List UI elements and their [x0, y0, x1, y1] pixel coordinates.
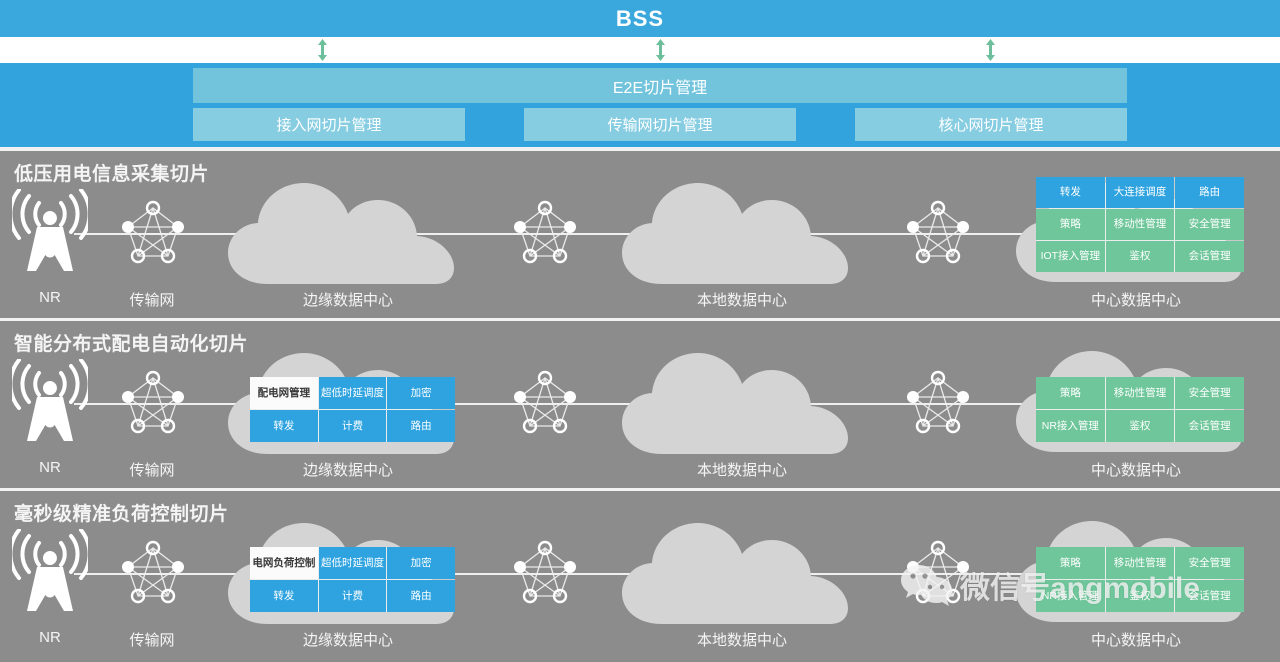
function-cell[interactable]: NR接入管理 [1036, 410, 1105, 442]
node-label-local-dc: 本地数据中心 [697, 629, 787, 650]
function-cell[interactable]: 大连接调度 [1106, 177, 1175, 208]
transport-slice-management-label: 传输网切片管理 [607, 114, 712, 135]
core-slice-management-box[interactable]: 核心网切片管理 [855, 108, 1127, 141]
function-cell[interactable]: 鉴权 [1106, 241, 1175, 272]
slice-row: 智能分布式配电自动化切片 [0, 321, 1280, 488]
double-headed-vertical-arrow-icon [317, 39, 328, 61]
network-mesh-icon [905, 369, 971, 435]
e2e-slice-management-box[interactable]: E2E切片管理 [193, 68, 1127, 103]
ran-slice-management-box[interactable]: 接入网切片管理 [193, 108, 465, 141]
function-cell[interactable]: NR接入管理 [1036, 580, 1105, 612]
node-label-transport: 传输网 [129, 289, 174, 310]
ran-slice-management-label: 接入网切片管理 [276, 114, 381, 135]
function-cell[interactable]: 安全管理 [1175, 377, 1244, 409]
edge-function-grid: 电网负荷控制超低时延调度加密转发计费路由 [250, 547, 455, 612]
network-mesh-icon [512, 369, 578, 435]
function-cell[interactable]: 路由 [387, 410, 455, 442]
function-cell[interactable]: 电网负荷控制 [250, 547, 318, 579]
central-function-grid: 策略移动性管理安全管理NR接入管理鉴权会话管理 [1036, 547, 1244, 612]
slice-title: 毫秒级精准负荷控制切片 [14, 499, 229, 526]
function-cell[interactable]: 移动性管理 [1106, 547, 1175, 579]
node-label-nr: NR [39, 459, 61, 476]
node-label-local-dc: 本地数据中心 [697, 459, 787, 480]
node-label-nr: NR [39, 289, 61, 306]
node-label-edge-dc: 边缘数据中心 [303, 459, 393, 480]
function-cell[interactable]: 转发 [250, 580, 318, 612]
function-cell[interactable]: 移动性管理 [1106, 209, 1175, 240]
slice-title: 低压用电信息采集切片 [14, 159, 209, 186]
function-cell[interactable]: 加密 [387, 547, 455, 579]
cloud-icon [618, 519, 866, 629]
function-cell[interactable]: 配电网管理 [250, 377, 318, 409]
network-mesh-icon [120, 369, 186, 435]
function-cell[interactable]: 会话管理 [1175, 580, 1244, 612]
e2e-slice-management-label: E2E切片管理 [613, 74, 707, 98]
cell-tower-icon [12, 359, 88, 445]
cell-tower-icon [12, 189, 88, 275]
function-cell[interactable]: 计费 [319, 580, 387, 612]
node-label-transport: 传输网 [129, 629, 174, 650]
function-cell[interactable]: 策略 [1036, 377, 1105, 409]
function-cell[interactable]: 会话管理 [1175, 410, 1244, 442]
bss-bar: BSS [0, 0, 1280, 37]
function-cell[interactable]: 路由 [387, 580, 455, 612]
function-cell[interactable]: 路由 [1175, 177, 1244, 208]
function-cell[interactable]: IOT接入管理 [1036, 241, 1105, 272]
function-cell[interactable]: 会话管理 [1175, 241, 1244, 272]
node-label-edge-dc: 边缘数据中心 [303, 629, 393, 650]
node-label-transport: 传输网 [129, 459, 174, 480]
network-mesh-icon [120, 199, 186, 265]
function-cell[interactable]: 策略 [1036, 209, 1105, 240]
network-mesh-icon [120, 539, 186, 605]
node-label-edge-dc: 边缘数据中心 [303, 289, 393, 310]
cloud-icon [224, 179, 472, 289]
slice-title: 智能分布式配电自动化切片 [14, 329, 248, 356]
node-label-local-dc: 本地数据中心 [697, 289, 787, 310]
edge-function-grid: 配电网管理超低时延调度加密转发计费路由 [250, 377, 455, 442]
central-function-grid: 策略移动性管理安全管理NR接入管理鉴权会话管理 [1036, 377, 1244, 442]
function-cell[interactable]: 安全管理 [1175, 547, 1244, 579]
slice-row: 毫秒级精准负荷控制切片 [0, 491, 1280, 662]
connector-strip [0, 37, 1280, 63]
function-cell[interactable]: 鉴权 [1106, 580, 1175, 612]
double-headed-vertical-arrow-icon [985, 39, 996, 61]
cell-tower-icon [12, 529, 88, 615]
slice-row: 低压用电信息采集切片 [0, 151, 1280, 318]
network-mesh-icon [512, 539, 578, 605]
cloud-icon [618, 349, 866, 459]
network-mesh-icon [512, 199, 578, 265]
node-label-central-dc: 中心数据中心 [1091, 289, 1181, 310]
function-cell[interactable]: 转发 [1036, 177, 1105, 208]
function-cell[interactable]: 安全管理 [1175, 209, 1244, 240]
diagram-canvas: BSS E2E切片管理 接入网切片管理 传输网切片管理 核心网切片管理 低压用电… [0, 0, 1280, 662]
function-cell[interactable]: 鉴权 [1106, 410, 1175, 442]
node-label-nr: NR [39, 629, 61, 646]
bss-title: BSS [616, 6, 664, 32]
network-mesh-icon [905, 199, 971, 265]
double-headed-vertical-arrow-icon [655, 39, 666, 61]
function-cell[interactable]: 加密 [387, 377, 455, 409]
core-slice-management-label: 核心网切片管理 [938, 114, 1043, 135]
network-mesh-icon [905, 539, 971, 605]
function-cell[interactable]: 超低时延调度 [319, 547, 387, 579]
function-cell[interactable]: 超低时延调度 [319, 377, 387, 409]
node-label-central-dc: 中心数据中心 [1091, 629, 1181, 650]
node-label-central-dc: 中心数据中心 [1091, 459, 1181, 480]
central-function-grid: 转发大连接调度路由策略移动性管理安全管理IOT接入管理鉴权会话管理 [1036, 177, 1244, 272]
function-cell[interactable]: 转发 [250, 410, 318, 442]
function-cell[interactable]: 策略 [1036, 547, 1105, 579]
cloud-icon [618, 179, 866, 289]
function-cell[interactable]: 计费 [319, 410, 387, 442]
transport-slice-management-box[interactable]: 传输网切片管理 [524, 108, 796, 141]
function-cell[interactable]: 移动性管理 [1106, 377, 1175, 409]
